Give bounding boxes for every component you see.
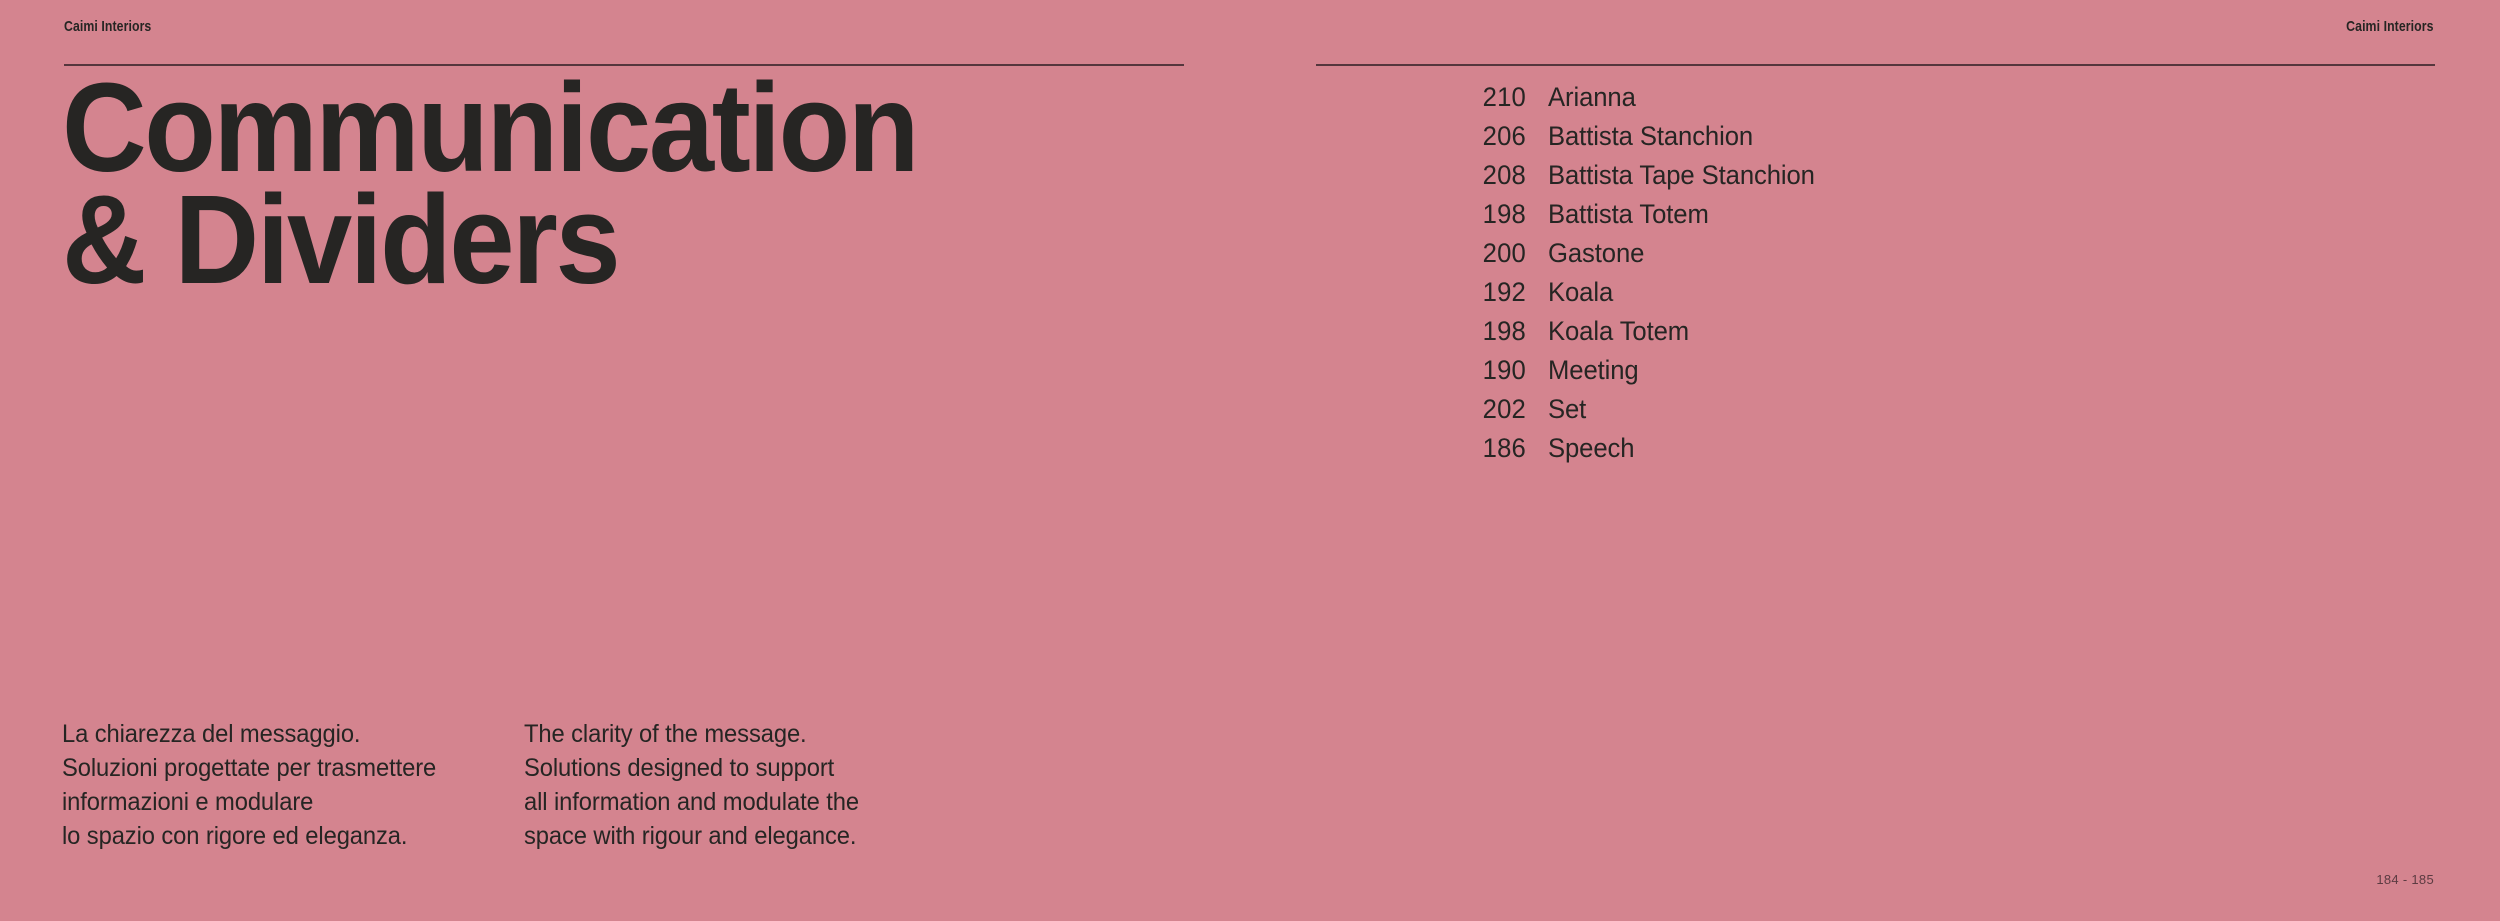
page-title-line-1: Communication [62,72,1085,184]
toc-page-number: 190 [1461,351,1526,390]
table-of-contents: 210 Arianna 206 Battista Stanchion 208 B… [1458,78,1829,468]
page-spread: Caimi Interiors Communication & Dividers… [0,0,2500,921]
toc-page-number: 202 [1461,390,1526,429]
toc-entry[interactable]: 210 Arianna [1458,78,1829,117]
toc-page-number: 210 [1461,78,1526,117]
toc-page-number: 206 [1461,117,1526,156]
header-rule-right [1316,64,2435,66]
toc-entry[interactable]: 202 Set [1458,390,1829,429]
toc-entry-label: Speech [1548,429,1634,468]
toc-entry-label: Gastone [1548,234,1644,273]
right-page [1250,0,2500,921]
toc-page-number: 200 [1461,234,1526,273]
toc-entry-label: Battista Stanchion [1548,117,1753,156]
intro-blurb-english: The clarity of the message. Solutions de… [524,717,961,853]
toc-entry[interactable]: 192 Koala [1458,273,1829,312]
running-head-left: Caimi Interiors [64,18,151,35]
toc-entry-label: Koala Totem [1548,312,1689,351]
toc-entry[interactable]: 186 Speech [1458,429,1829,468]
toc-page-number: 198 [1461,312,1526,351]
toc-entry[interactable]: 200 Gastone [1458,234,1829,273]
toc-entry[interactable]: 190 Meeting [1458,351,1829,390]
toc-page-number: 186 [1461,429,1526,468]
toc-page-number: 192 [1461,273,1526,312]
toc-entry-label: Meeting [1548,351,1639,390]
toc-page-number: 208 [1461,156,1526,195]
intro-blurb-italian: La chiarezza del messaggio. Soluzioni pr… [62,717,499,853]
page-title-line-2: & Dividers [62,184,1085,296]
toc-entry-label: Battista Totem [1548,195,1709,234]
toc-entry-label: Arianna [1548,78,1636,117]
running-head-right: Caimi Interiors [2347,18,2434,35]
toc-entry[interactable]: 198 Battista Totem [1458,195,1829,234]
page-title: Communication & Dividers [62,62,1162,296]
toc-entry-label: Battista Tape Stanchion [1548,156,1815,195]
toc-entry[interactable]: 198 Koala Totem [1458,312,1829,351]
toc-entry[interactable]: 208 Battista Tape Stanchion [1458,156,1829,195]
toc-page-number: 198 [1461,195,1526,234]
toc-entry[interactable]: 206 Battista Stanchion [1458,117,1829,156]
toc-entry-label: Set [1548,390,1586,429]
left-page: Caimi Interiors Communication & Dividers… [0,0,1250,921]
toc-entry-label: Koala [1548,273,1613,312]
intro-blurbs: La chiarezza del messaggio. Soluzioni pr… [62,717,1182,853]
folio-page-number: 184 - 185 [2376,872,2434,887]
